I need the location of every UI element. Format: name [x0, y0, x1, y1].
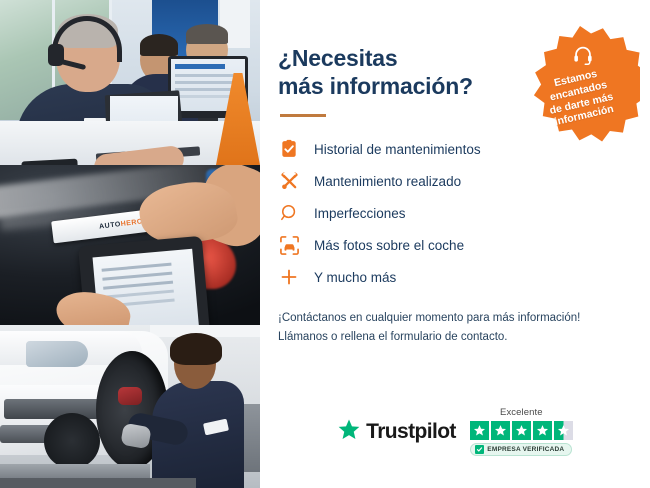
feature-item-more-photos: Más fotos sobre el coche [278, 229, 624, 261]
rear-tire [44, 413, 100, 469]
ruler-brand-text: AUTOHERO [99, 218, 143, 230]
car-photo-frame-icon [278, 234, 300, 256]
feature-label: Y mucho más [314, 270, 396, 285]
contact-info-card: AUTOHERO [0, 0, 650, 488]
magnifier-icon [278, 202, 300, 224]
feature-item-maintenance-done: Mantenimiento realizado [278, 165, 624, 197]
headline-line-1: ¿Necesitas [278, 45, 397, 71]
trustpilot-stars [470, 421, 573, 440]
feature-item-imperfections: Imperfecciones [278, 197, 624, 229]
contact-line-1: ¡Contáctanos en cualquier momento para m… [278, 312, 580, 324]
trustpilot-widget[interactable]: Trustpilot Excelente [278, 407, 632, 456]
call-center-agent-photo [0, 0, 260, 165]
feature-label: Imperfecciones [314, 206, 406, 221]
second-agent-hair [140, 34, 178, 56]
verified-label: EMPRESA VERIFICADA [487, 446, 564, 453]
technician-tool [118, 387, 142, 405]
background-colleague-hair [186, 24, 228, 44]
trustpilot-rating-label: Excelente [500, 407, 543, 418]
info-badge: Estamos encantados de darte más informac… [520, 26, 640, 146]
page-title: ¿Necesitas más información? [278, 44, 508, 100]
workshop-floor [0, 478, 196, 488]
contact-text: ¡Contáctanos en cualquier momento para m… [278, 309, 624, 346]
feature-label: Mantenimiento realizado [314, 174, 461, 189]
trustpilot-logo[interactable]: Trustpilot [337, 418, 456, 446]
tools-icon [278, 170, 300, 192]
feature-label: Más fotos sobre el coche [314, 238, 464, 253]
trustpilot-star-filled [512, 421, 531, 440]
content-panel: ¿Necesitas más información? Historial de… [260, 0, 650, 488]
headset-icon [572, 44, 594, 71]
title-divider [280, 114, 326, 117]
technician-hair [170, 333, 222, 365]
contact-line-2: Llámanos o rellena el formulario de cont… [278, 331, 508, 343]
trustpilot-star-half [554, 421, 573, 440]
trustpilot-star-filled [491, 421, 510, 440]
trustpilot-star-filled [470, 421, 489, 440]
verified-company-badge: EMPRESA VERIFICADA [470, 443, 572, 456]
car-inspection-photo: AUTOHERO [0, 165, 260, 325]
headline-line-2: más información? [278, 73, 473, 99]
trustpilot-wordmark: Trustpilot [366, 420, 456, 444]
check-icon [475, 445, 484, 454]
feature-label: Historial de mantenimientos [314, 142, 481, 157]
trustpilot-star-icon [337, 418, 361, 446]
feature-item-much-more: Y mucho más [278, 261, 624, 293]
car-headlight [26, 341, 88, 367]
trustpilot-rating: Excelente [470, 407, 573, 456]
feature-list: Historial de mantenimientos Mantenimient… [278, 133, 624, 293]
workshop-technician-photo [0, 325, 260, 488]
plus-icon [278, 266, 300, 288]
clipboard-check-icon [278, 138, 300, 160]
trustpilot-star-filled [533, 421, 552, 440]
photo-column: AUTOHERO [0, 0, 260, 488]
